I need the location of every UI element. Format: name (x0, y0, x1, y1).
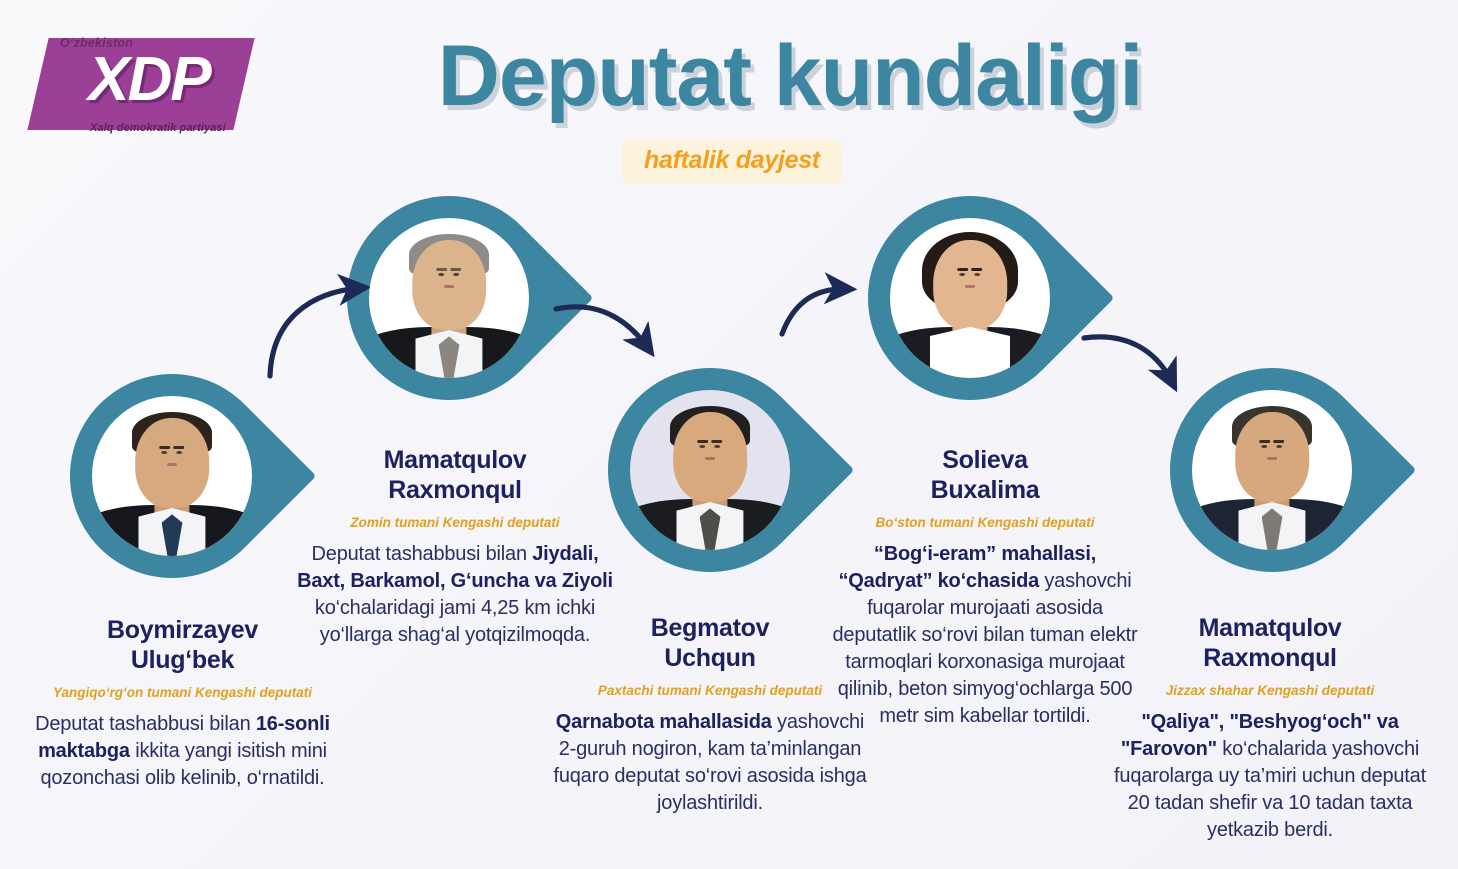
xdp-party-logo: O‘zbekiston XDP Xalq demokratik partiyas… (38, 30, 258, 138)
pin-marker-4[interactable] (868, 196, 1072, 454)
avatar-4 (890, 218, 1050, 378)
logo-top-text: O‘zbekiston (60, 36, 133, 50)
deputy-role-1: Yangiqo‘rg‘on tumani Kengashi deputati (15, 684, 350, 701)
deputy-name-2: Mamatqulov Raxmonqul (290, 445, 620, 505)
pin-marker-5[interactable] (1170, 368, 1374, 626)
deputy-card-5: Mamatqulov Raxmonqul Jizzax shahar Kenga… (1105, 613, 1435, 844)
deputy-body-1: Deputat tashabbusi bilan 16-sonli maktab… (15, 711, 350, 792)
avatar-1 (92, 396, 252, 556)
deputy-card-4: Solieva Buxalima Bo‘ston tumani Kengashi… (825, 445, 1145, 730)
deputy-body-4: “Bog‘i-eram” mahallasi, “Qadryat” ko‘cha… (825, 541, 1145, 730)
logo-main-text: XDP (54, 46, 244, 114)
deputy-role-4: Bo‘ston tumani Kengashi deputati (825, 514, 1145, 531)
subtitle-text: haftalik dayjest (644, 146, 820, 174)
infographic-canvas: O‘zbekiston XDP Xalq demokratik partiyas… (0, 0, 1458, 869)
arrow-4-to-5 (1084, 337, 1172, 382)
pin-marker-2[interactable] (347, 196, 551, 454)
deputy-body-5: "Qaliya", "Beshyog‘och" va "Farovon" ko‘… (1105, 709, 1435, 844)
pin-marker-3[interactable] (608, 368, 812, 626)
avatar-5 (1192, 390, 1352, 550)
avatar-2 (369, 218, 529, 378)
arrow-3-to-4 (782, 289, 846, 334)
avatar-3 (630, 390, 790, 550)
deputy-role-5: Jizzax shahar Kengashi deputati (1105, 682, 1435, 699)
deputy-role-2: Zomin tumani Kengashi deputati (290, 514, 620, 531)
page-title: Deputat kundaligi (360, 28, 1220, 124)
subtitle-badge: haftalik dayjest (622, 140, 842, 183)
pin-marker-1[interactable] (70, 374, 274, 632)
deputy-name-4: Solieva Buxalima (825, 445, 1145, 505)
deputy-name-5: Mamatqulov Raxmonqul (1105, 613, 1435, 673)
logo-bottom-text: Xalq demokratik partiyasi (90, 122, 226, 134)
